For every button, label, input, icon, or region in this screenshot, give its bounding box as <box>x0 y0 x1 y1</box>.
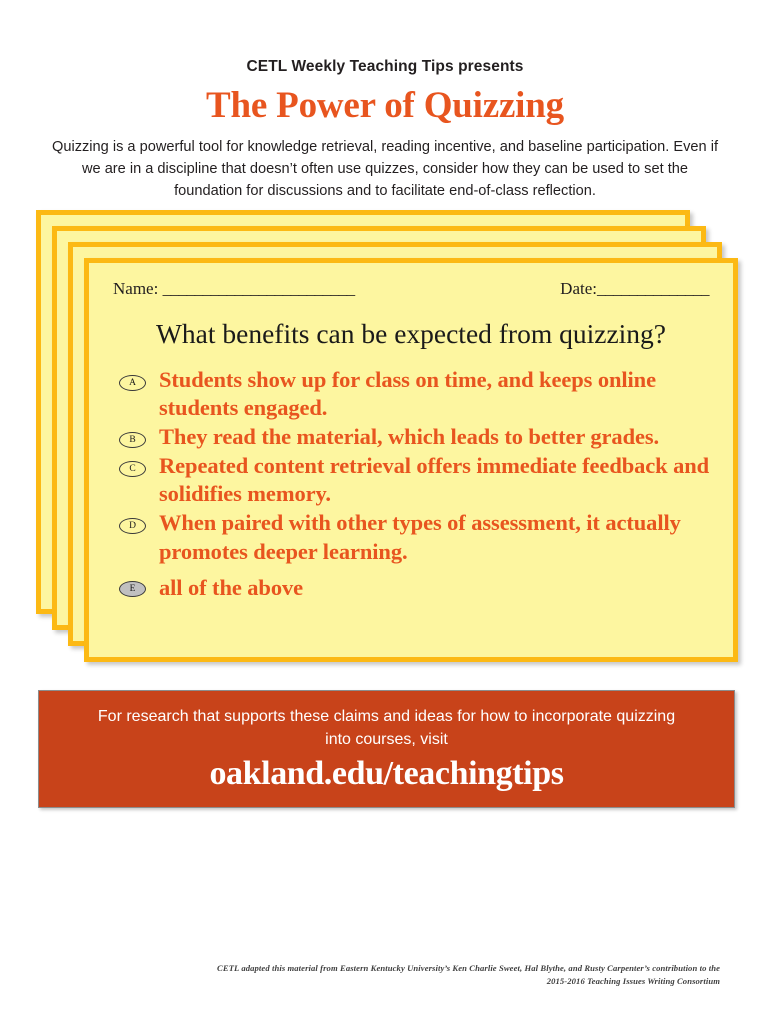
page-header: CETL Weekly Teaching Tips presents The P… <box>0 58 770 126</box>
answer-options-list: A Students show up for class on time, an… <box>111 366 711 602</box>
answer-option-label: When paired with other types of assessme… <box>159 509 711 565</box>
intro-paragraph: Quizzing is a powerful tool for knowledg… <box>52 136 718 203</box>
name-field[interactable]: Name: ________________________ <box>113 279 355 299</box>
footer-credit-line-1: CETL adapted this material from Eastern … <box>120 962 720 975</box>
date-label: Date: <box>560 279 597 298</box>
name-label: Name: <box>113 279 158 298</box>
answer-option-d[interactable]: D When paired with other types of assess… <box>119 509 711 565</box>
name-date-row: Name: ________________________ Date:____… <box>111 279 711 299</box>
quiz-card-stack: Name: Name: Name: Name: ________________… <box>36 210 736 680</box>
answer-option-label: Students show up for class on time, and … <box>159 366 711 422</box>
footer-credit: CETL adapted this material from Eastern … <box>120 962 720 989</box>
answer-option-label: They read the material, which leads to b… <box>159 423 659 451</box>
name-rule: ________________________ <box>163 279 355 298</box>
cta-url-link[interactable]: oakland.edu/teachingtips <box>209 756 563 792</box>
flyer-page: CETL Weekly Teaching Tips presents The P… <box>0 0 770 1024</box>
series-kicker: CETL Weekly Teaching Tips presents <box>0 58 770 77</box>
answer-bubble-icon-selected[interactable]: E <box>119 581 146 597</box>
answer-option-label: Repeated content retrieval offers immedi… <box>159 452 711 508</box>
call-to-action-banner: For research that supports these claims … <box>38 690 735 808</box>
answer-bubble-icon[interactable]: C <box>119 461 146 477</box>
footer-credit-line-2: 2015-2016 Teaching Issues Writing Consor… <box>120 975 720 988</box>
answer-option-c[interactable]: C Repeated content retrieval offers imme… <box>119 452 711 508</box>
page-title: The Power of Quizzing <box>0 86 770 127</box>
answer-option-a[interactable]: A Students show up for class on time, an… <box>119 366 711 422</box>
cta-line-1: For research that supports these claims … <box>98 706 675 729</box>
date-field[interactable]: Date:______________ <box>560 279 709 299</box>
cta-line-2: into courses, visit <box>325 729 448 752</box>
answer-option-label: all of the above <box>159 574 303 602</box>
answer-bubble-icon[interactable]: D <box>119 518 146 534</box>
quiz-card-front: Name: ________________________ Date:____… <box>84 258 738 662</box>
answer-option-e[interactable]: E all of the above <box>119 574 711 602</box>
quiz-question: What benefits can be expected from quizz… <box>111 319 711 350</box>
answer-option-b[interactable]: B They read the material, which leads to… <box>119 423 711 451</box>
answer-bubble-icon[interactable]: A <box>119 375 146 391</box>
date-rule: ______________ <box>597 279 709 298</box>
answer-bubble-icon[interactable]: B <box>119 432 146 448</box>
